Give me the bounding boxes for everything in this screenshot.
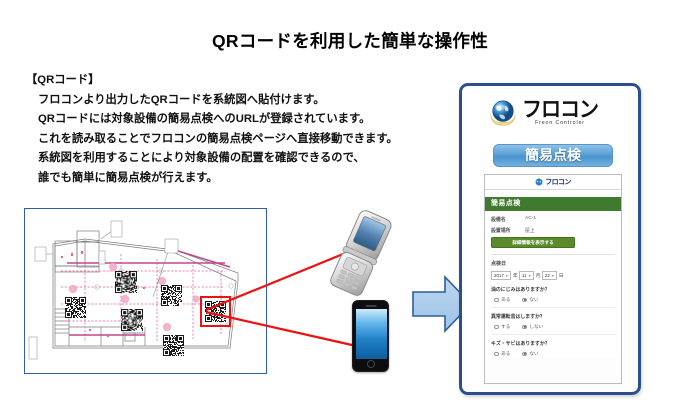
globe-in-hands-icon — [488, 98, 518, 128]
year-unit: 年 — [513, 273, 518, 279]
panel-header: フロコン Freon Controler — [462, 92, 638, 138]
question-options: ある ない — [491, 351, 615, 357]
smartphone-image — [352, 300, 389, 372]
question-text: 異常運転音はしますか？ — [491, 313, 615, 320]
option-label: ない — [529, 351, 538, 357]
webpage-form: 設備名 AC-1 設置場所 屋上 詳細情報を表示する 点検日 2017 ▼ 年 — [485, 211, 621, 357]
day-unit: 日 — [559, 273, 564, 279]
field-row-location: 設置場所 屋上 — [491, 227, 615, 234]
qr-code-5 — [163, 335, 184, 356]
divider — [491, 307, 615, 308]
brand-name: フロコン — [522, 99, 598, 121]
question-options: する しない — [491, 324, 615, 330]
year-value: 2017 — [494, 273, 504, 278]
description-line-2: QRコードには対象設備の簡易点検へのURLが登録されています。 — [38, 110, 446, 130]
field-value: 屋上 — [525, 227, 535, 234]
chevron-down-icon: ▼ — [528, 274, 531, 278]
month-unit: 月 — [536, 273, 541, 279]
qr-highlight-box — [200, 296, 231, 327]
option-label: しない — [529, 324, 543, 330]
description-line-3: これを読み取ることでフロコンの簡易点検ページへ直接移動できます。 — [38, 130, 446, 150]
month-select[interactable]: 11 ▼ — [519, 271, 534, 280]
field-row-equipment-name: 設備名 AC-1 — [491, 216, 615, 223]
brand-tagline: Freon Controler — [535, 121, 585, 126]
option-label: ある — [501, 351, 510, 357]
month-value: 11 — [522, 273, 527, 278]
description-line-1: フロコンより出力したQRコードを系統図へ貼付けます。 — [38, 91, 446, 111]
chevron-down-icon: ▼ — [505, 274, 508, 278]
slide-canvas: QRコードを利用した簡単な操作性 【QRコード】 フロコンより出力したQRコード… — [0, 0, 700, 417]
qr-code-1 — [115, 271, 137, 293]
webpage-logo-text: フロコン — [545, 177, 571, 187]
qr-code-3 — [161, 285, 182, 306]
webpage-spacer — [485, 190, 621, 197]
kani-tenken-header-button[interactable]: 簡易点検 — [493, 144, 613, 167]
day-select[interactable]: 22 ▼ — [542, 271, 558, 280]
radio-icon-selected[interactable] — [522, 352, 527, 357]
divider — [491, 254, 615, 255]
inspection-date-row: 2017 ▼ 年 11 ▼ 月 22 ▼ 日 — [491, 271, 615, 280]
option-label: する — [501, 324, 510, 330]
description-line-4: 系統図を利用することにより対象設備の配置を確認できるので、 — [38, 149, 446, 169]
floorplan-canvas — [25, 209, 266, 373]
option-1[interactable]: する — [494, 324, 510, 330]
smartphone-screen — [356, 309, 387, 359]
question-text: キズ・サビはありますか？ — [491, 340, 615, 347]
smartphone-home-button — [367, 360, 375, 368]
option-2[interactable]: ない — [522, 351, 538, 357]
floorplan-diagram — [24, 208, 267, 374]
description-block: 【QRコード】 フロコンより出力したQRコードを系統図へ貼付けます。 QRコード… — [26, 71, 446, 188]
radio-icon[interactable] — [494, 325, 499, 330]
mobile-page-panel: フロコン Freon Controler 簡易点検 フロコン 簡易点検 — [459, 83, 641, 395]
brand-logo: フロコン Freon Controler — [488, 98, 598, 128]
field-label: 設置場所 — [491, 227, 525, 234]
radio-icon[interactable] — [494, 352, 499, 357]
radio-icon-selected[interactable] — [522, 325, 527, 330]
show-detail-button[interactable]: 詳細情報を表示する — [491, 237, 575, 248]
question-row-2: 異常運転音はしますか？ する しない — [491, 313, 615, 330]
field-value: AC-1 — [525, 216, 536, 223]
option-label: ある — [501, 297, 510, 303]
chevron-down-icon: ▼ — [551, 274, 554, 278]
inspection-date-label: 点検日 — [491, 260, 615, 267]
qr-code-2 — [65, 297, 86, 318]
question-row-1: 油のにじみはありますか？ ある ない — [491, 286, 615, 303]
question-options: ある ない — [491, 297, 615, 303]
description-line-5: 誰でも簡単に簡易点検が行えます。 — [38, 169, 446, 189]
radio-icon-selected[interactable] — [522, 298, 527, 303]
option-1[interactable]: ある — [494, 351, 510, 357]
webpage-preview: フロコン 簡易点検 設備名 AC-1 設置場所 屋上 詳細情報を表示する 点検日 — [484, 174, 622, 384]
brand-text-block: フロコン Freon Controler — [522, 99, 598, 126]
question-text: 油のにじみはありますか？ — [491, 286, 615, 293]
question-row-3: キズ・サビはありますか？ ある ない — [491, 340, 615, 357]
smartphone-speaker — [365, 305, 376, 307]
page-title: QRコードを利用した簡単な操作性 — [0, 28, 700, 53]
year-select[interactable]: 2017 ▼ — [491, 271, 511, 280]
option-1[interactable]: ある — [494, 297, 510, 303]
field-label: 設備名 — [491, 216, 525, 223]
option-2[interactable]: ない — [522, 297, 538, 303]
webpage-section-title: 簡易点検 — [485, 197, 621, 211]
qr-code-4 — [121, 309, 143, 331]
globe-small-icon — [535, 178, 543, 186]
radio-icon[interactable] — [494, 298, 499, 303]
option-label: ない — [529, 297, 538, 303]
floorplan-drawing — [25, 209, 265, 372]
option-2[interactable]: しない — [522, 324, 543, 330]
flip-phone-image — [330, 208, 402, 300]
description-heading: 【QRコード】 — [26, 71, 446, 91]
webpage-logo-bar: フロコン — [485, 175, 621, 190]
divider — [491, 334, 615, 335]
day-value: 22 — [545, 273, 550, 278]
